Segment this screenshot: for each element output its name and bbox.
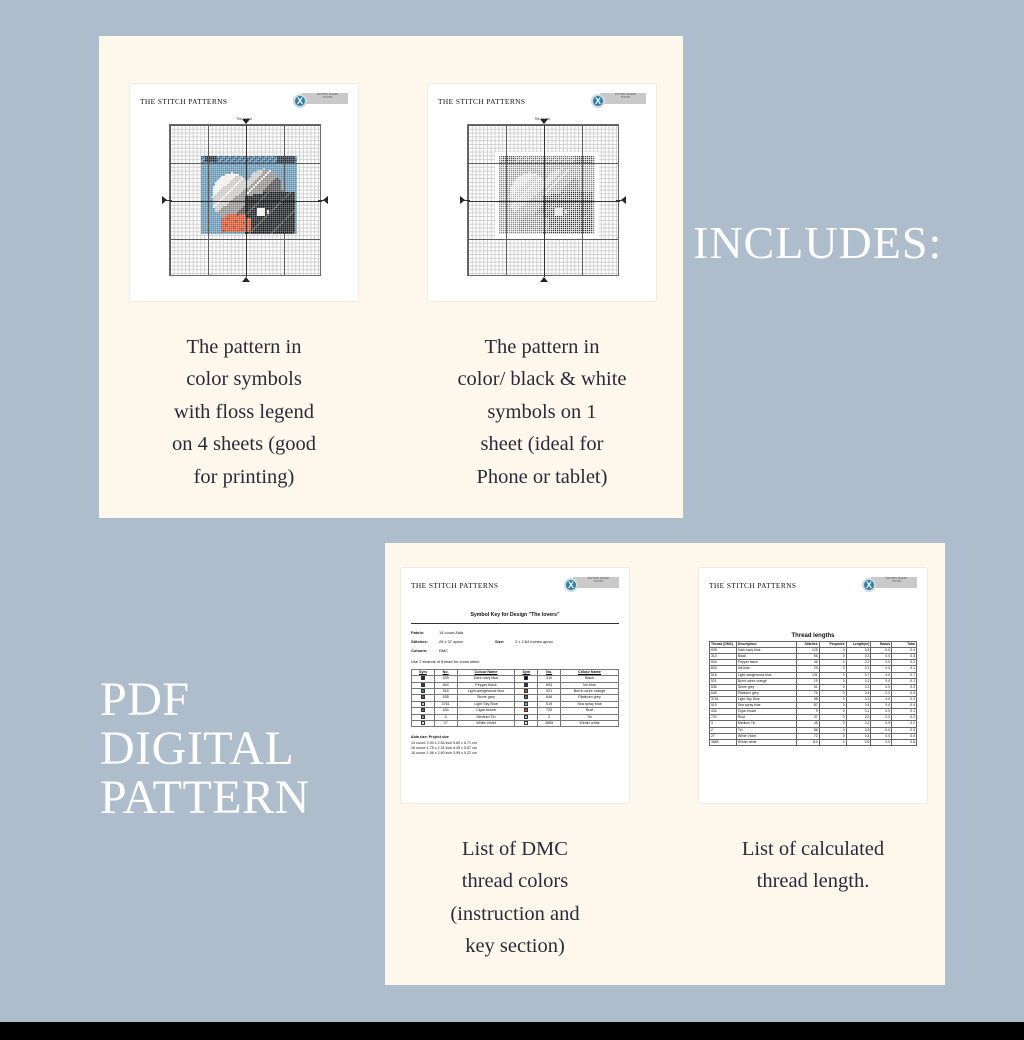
color-symbol-icon [421,683,425,687]
card-dmc-colors[interactable]: THE STITCH PATTERNS X PATTERN MAKER TEST… [401,568,629,963]
card-color-symbols[interactable]: THE STITCH PATTERNS X PATTERN MAKER TEST… [130,84,358,493]
brand-title: THE STITCH PATTERNS [140,97,227,106]
spec-value: 28 x 37 aprox [439,639,495,644]
caption-line: symbols on 1 [428,396,656,428]
pdf-digital-pattern-heading: PDF DIGITAL PATTERN [100,676,310,823]
table-row: 3761Light Sky Blue5800.30.00.3 [710,696,917,702]
spec-label: Fabric: [411,630,439,635]
card-thread-length[interactable]: THE STITCH PATTERNS X PATTERN MAKER TEST… [699,568,927,898]
caption-line: The pattern in [130,331,358,363]
pattern-maker-badge: X PATTERN MAKER TESTED [862,577,917,588]
axis-extend-right [318,200,328,201]
badge-x-icon: X [564,578,578,592]
table-row: 310Black6600.30.00.3 [710,654,917,660]
poster-canvas: THE STITCH PATTERNS X PATTERN MAKER TEST… [0,0,1024,1040]
spec-value: 14 count Aida [439,630,463,635]
aida-line: 18 count: 1.56 x 2.60 inch 3.95 x 5.22 c… [411,751,619,756]
caption-line: thread colors [401,865,629,897]
spec-label: Stitches: [411,639,439,644]
axis-extend-left [460,200,470,201]
pattern-maker-badge: X PATTERN MAKER TESTED [293,93,348,104]
table-row: 844Pepper black4600.20.00.2 [710,660,917,666]
axis-extend-left [162,200,172,201]
table-row: 519Sea spray blue8700.40.00.4 [710,703,917,709]
backs-cell: 0.0 [871,739,892,745]
thread-lengths-table: Thread (DMC) Description Stitches Pequni… [709,641,917,746]
doc-thread-lengths[interactable]: THE STITCH PATTERNS X PATTERN MAKER TEST… [699,568,927,803]
caption-line: List of DMC [401,833,629,865]
description-cell: Winter white [736,739,796,745]
total-cell: 0.6 [892,739,917,745]
strands-note: Use 2 strands of thread for cross stitch [411,659,619,664]
coarse-gridlines [170,125,320,275]
badge-ribbon: PATTERN MAKER TESTED [871,577,917,588]
caption-line: key section) [401,930,629,962]
color-symbol-icon [524,702,528,706]
badge-ribbon: PATTERN MAKER TESTED [302,93,348,104]
table-row: 27White Violet7200.40.00.4 [710,733,917,739]
divider [411,623,619,624]
pattern-maker-badge: X PATTERN MAKER TESTED [564,577,619,588]
top-panel: THE STITCH PATTERNS X PATTERN MAKER TEST… [99,36,683,518]
caption-line: The pattern in [428,331,656,363]
table-row: 3865Winter white11000.60.00.6 [710,739,917,745]
color-symbol-icon [421,695,425,699]
symbol-key-table: Sym No. Colour Name Sym No. Colour Name … [411,669,619,727]
color-symbol-icon [421,702,425,706]
stitch-grid-bw [467,124,619,276]
axis-horizontal [468,201,620,202]
table-row: 3Medium Tin4800.20.00.2 [710,721,917,727]
color-symbol-icon [421,676,425,680]
pequnies-cell: 0 [819,739,846,745]
marker-bottom-icon [540,277,548,282]
color-symbol-icon [524,715,528,719]
coarse-gridlines [468,125,618,275]
caption-color-symbols: The pattern in color symbols with floss … [130,331,358,493]
color-symbol-icon [524,676,528,680]
thread-cell: 3865 [710,739,737,745]
aida-size-title: Aida size: Project size [411,735,449,739]
doc-header: THE STITCH PATTERNS X PATTERN MAKER TEST… [438,93,646,106]
brand-title: THE STITCH PATTERNS [411,581,498,590]
caption-line: sheet (ideal for [428,428,656,460]
stitch-grid-color [169,124,321,276]
caption-line: thread length. [699,865,927,897]
col-thread: Thread (DMC) [710,642,737,648]
colour-name-cell: Winter white [561,720,619,726]
badge-line-2: TESTED [310,97,345,100]
spec-colours: Colours: DMC [411,648,619,653]
table-row: 939Dark navy blue12500.40.00.4 [710,648,917,654]
caption-line: Phone or tablet) [428,461,656,493]
axis-horizontal [170,201,322,202]
badge-x-icon: X [591,94,605,108]
table-row: 646Platinum grey7600.40.00.4 [710,690,917,696]
doc-symbol-key[interactable]: THE STITCH PATTERNS X PATTERN MAKER TEST… [401,568,629,803]
marker-bottom-icon [242,277,250,282]
spec-label-size: Size: [495,639,515,644]
badge-line-2: TESTED [879,581,914,584]
symbol-key-title: Symbol Key for Design "The lovers" [411,612,619,618]
caption-line: color symbols [130,363,358,395]
chart-color: The lovers [140,117,348,289]
caption-dmc-colors: List of DMC thread colors (instruction a… [401,833,629,963]
caption-bw-symbols: The pattern in color/ black & white symb… [428,331,656,493]
caption-line: with floss legend [130,396,358,428]
bottom-panel: THE STITCH PATTERNS X PATTERN MAKER TEST… [385,543,945,985]
doc-color-chart[interactable]: THE STITCH PATTERNS X PATTERN MAKER TEST… [130,84,358,301]
symbol-swatch-cell [515,720,538,726]
table-row: 2Tin5600.30.00.3 [710,727,917,733]
spec-fabric: Fabric: 14 count Aida [411,630,619,635]
doc-header: THE STITCH PATTERNS X PATTERN MAKER TEST… [709,577,917,590]
axis-extend-right [616,200,626,201]
color-symbol-icon [421,721,425,725]
pdf-line-3: PATTERN [100,774,310,823]
colour-name-cell: White Violet [457,720,515,726]
color-symbol-icon [421,715,425,719]
spec-value: DMC [439,648,448,653]
color-symbol-icon [524,695,528,699]
card-bw-symbols[interactable]: THE STITCH PATTERNS X PATTERN MAKER TEST… [428,84,656,493]
brand-title: THE STITCH PATTERNS [709,581,796,590]
color-symbol-icon [421,708,425,712]
badge-ribbon: PATTERN MAKER TESTED [573,577,619,588]
pdf-line-1: PDF [100,676,310,725]
dmc-number-cell: 3865 [538,720,561,726]
symbol-key-rows: 939Dark navy blue310Black844Pepper black… [412,676,619,727]
symbol-key-body: Symbol Key for Design "The lovers" Fabri… [411,612,619,757]
badge-line-2: TESTED [608,97,643,100]
thread-lengths-rows: 939Dark navy blue12500.40.00.4310Black66… [710,648,917,746]
marker-top-icon [242,119,250,124]
spec-value-size: 2 x 2.64 inches aprox [515,639,553,644]
color-symbol-icon [421,689,425,693]
badge-ribbon: PATTERN MAKER TESTED [600,93,646,104]
bottom-bar [0,1022,1024,1040]
chart-bw: The lovers [438,117,646,289]
stitches-cell: 110 [796,739,819,745]
dmc-number-cell: 27 [434,720,457,726]
thread-lengths-body: Thread lengths Thread (DMC) Description … [709,633,917,746]
caption-line: (instruction and [401,898,629,930]
doc-header: THE STITCH PATTERNS X PATTERN MAKER TEST… [140,93,348,106]
table-row: 720Rust3700.20.00.2 [710,715,917,721]
table-row: 535Stone grey5100.30.00.3 [710,684,917,690]
doc-bw-chart[interactable]: THE STITCH PATTERNS X PATTERN MAKER TEST… [428,84,656,301]
brand-title: THE STITCH PATTERNS [438,97,525,106]
caption-thread-length: List of calculated thread length. [699,833,927,898]
table-header-row: Thread (DMC) Description Stitches Pequni… [710,642,917,648]
table-row: 803Ink blue2900.10.00.1 [710,666,917,672]
color-symbol-icon [524,721,528,725]
length-cell: 0.6 [846,739,871,745]
color-symbol-icon [524,689,528,693]
caption-line: List of calculated [699,833,927,865]
thread-lengths-title: Thread lengths [709,633,917,639]
caption-line: color/ black & white [428,363,656,395]
doc-header: THE STITCH PATTERNS X PATTERN MAKER TEST… [411,577,619,590]
caption-line: on 4 sheets (good [130,428,358,460]
table-row: 518Light wedgewood blue13100.70.00.7 [710,672,917,678]
table-row: 921Burnt ochre orange1900.10.00.1 [710,678,917,684]
aida-size-block: Aida size: Project size 14 count: 2.00 x… [411,735,619,757]
badge-line-2: TESTED [581,581,616,584]
badge-x-icon: X [862,578,876,592]
spec-label: Colours: [411,648,439,653]
spec-stitches: Stitches: 28 x 37 aprox Size: 2 x 2.64 i… [411,639,619,644]
table-row: 27White Violet3865Winter white [412,720,619,726]
color-symbol-icon [524,708,528,712]
badge-x-icon: X [293,94,307,108]
pattern-maker-badge: X PATTERN MAKER TESTED [591,93,646,104]
marker-top-icon [540,119,548,124]
color-symbol-icon [524,683,528,687]
includes-heading: INCLUDES: [693,216,942,269]
symbol-swatch-cell [412,720,435,726]
caption-line: for printing) [130,461,358,493]
pdf-line-2: DIGITAL [100,725,310,774]
